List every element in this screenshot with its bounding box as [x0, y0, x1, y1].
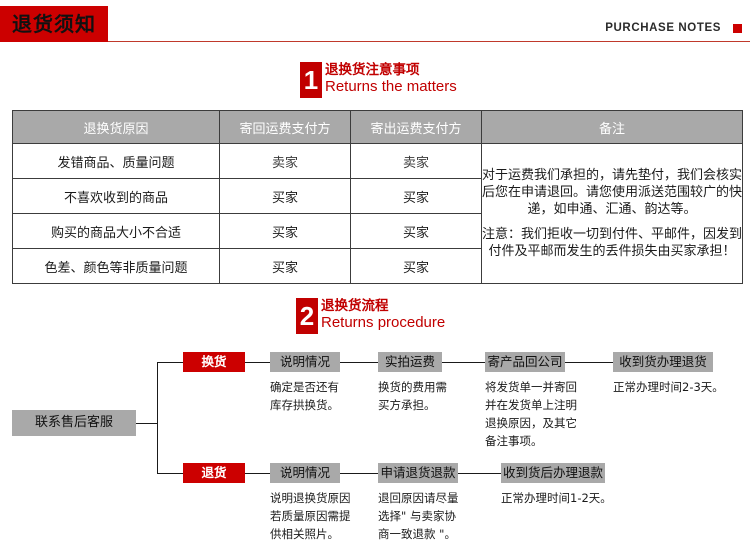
remark-paragraph-2: 注意：我们拒收一切到付件、平邮件，因发到付件及平邮而发生的丢件损失由买家承担！	[482, 226, 742, 260]
returns-policy-table: 退换货原因 寄回运费支付方 寄出运费支付方 备注 发错商品、质量问题 卖家 卖家…	[12, 110, 743, 284]
flow-step-exchange-4: 收到货办理退货	[613, 352, 713, 372]
flow-connector	[136, 423, 158, 424]
flow-step-return-1-desc: 说明退换货原因 若质量原因需提 供相关照片。	[270, 489, 380, 543]
flow-connector	[442, 362, 485, 363]
table-header-reason: 退换货原因	[13, 111, 220, 144]
flow-step-return-3-desc: 正常办理时间1-2天。	[501, 489, 641, 507]
flow-start-contact-service: 联系售后客服	[12, 410, 136, 436]
flow-step-exchange-1: 说明情况	[270, 352, 340, 372]
returns-flowchart: 联系售后客服 换货 说明情况 确定是否还有 库存拱换货。 实拍运费 换货的费用需…	[0, 340, 750, 551]
flow-step-return-1: 说明情况	[270, 463, 340, 483]
flow-connector	[340, 473, 378, 474]
page-title: 退货须知	[0, 6, 108, 42]
flow-connector	[565, 362, 613, 363]
red-square-icon	[733, 24, 742, 33]
cell-return-fee: 买家	[220, 214, 351, 249]
flow-branch-return: 退货	[183, 463, 245, 483]
cell-reason: 不喜欢收到的商品	[13, 179, 220, 214]
table-row: 发错商品、质量问题 卖家 卖家 对于运费我们承担的，请先垫付，我们会核实后您在申…	[13, 144, 743, 179]
flow-step-exchange-2-desc: 换货的费用需 买方承担。	[378, 378, 478, 414]
section-2-number: 2	[296, 298, 318, 334]
header-divider	[108, 41, 750, 42]
section-2-text: 退换货流程 Returns procedure	[321, 298, 445, 332]
cell-send-fee: 买家	[351, 249, 482, 284]
table-header-send-fee: 寄出运费支付方	[351, 111, 482, 144]
flow-step-return-2-desc: 退回原因请尽量 选择" 与卖家协 商一致退款 "。	[378, 489, 488, 543]
cell-reason: 购买的商品大小不合适	[13, 214, 220, 249]
header-banner: 退货须知	[0, 6, 108, 42]
flow-connector	[458, 473, 501, 474]
cell-send-fee: 卖家	[351, 144, 482, 179]
flow-connector	[157, 362, 183, 363]
cell-return-fee: 买家	[220, 179, 351, 214]
cell-send-fee: 买家	[351, 179, 482, 214]
table-header-return-fee: 寄回运费支付方	[220, 111, 351, 144]
table-header-row: 退换货原因 寄回运费支付方 寄出运费支付方 备注	[13, 111, 743, 144]
flow-step-exchange-3-desc: 将发货单一并寄回 并在发货单上注明 退换原因，及其它 备注事项。	[485, 378, 595, 450]
section-1-number: 1	[300, 62, 322, 98]
cell-return-fee: 卖家	[220, 144, 351, 179]
page-header: 退货须知 PURCHASE NOTES	[0, 0, 750, 48]
flow-connector	[245, 362, 270, 363]
cell-remark: 对于运费我们承担的，请先垫付，我们会核实后您在申请退回。请您使用派送范围较广的快…	[482, 144, 743, 284]
section-1-title: 1 退换货注意事项 Returns the matters	[300, 62, 457, 98]
header-right-group: PURCHASE NOTES	[605, 22, 742, 34]
cell-return-fee: 买家	[220, 249, 351, 284]
flow-spine	[157, 362, 158, 474]
flow-step-exchange-4-desc: 正常办理时间2-3天。	[613, 378, 743, 396]
flow-step-return-2: 申请退货退款	[378, 463, 458, 483]
section-1-title-cn: 退换货注意事项	[325, 62, 457, 78]
section-2-title-cn: 退换货流程	[321, 298, 445, 314]
flow-step-return-3: 收到货后办理退款	[501, 463, 605, 483]
flow-connector	[340, 362, 378, 363]
table-header-remark: 备注	[482, 111, 743, 144]
flow-connector	[245, 473, 270, 474]
flow-step-exchange-2: 实拍运费	[378, 352, 442, 372]
cell-send-fee: 买家	[351, 214, 482, 249]
remark-paragraph-1: 对于运费我们承担的，请先垫付，我们会核实后您在申请退回。请您使用派送范围较广的快…	[482, 167, 742, 218]
cell-reason: 发错商品、质量问题	[13, 144, 220, 179]
flow-connector	[157, 473, 183, 474]
section-2-title: 2 退换货流程 Returns procedure	[296, 298, 445, 334]
section-2-title-en: Returns procedure	[321, 314, 445, 332]
flow-branch-exchange: 换货	[183, 352, 245, 372]
header-subtitle: PURCHASE NOTES	[605, 22, 721, 34]
flow-step-exchange-3: 寄产品回公司	[485, 352, 565, 372]
section-1-title-en: Returns the matters	[325, 78, 457, 96]
section-1-text: 退换货注意事项 Returns the matters	[325, 62, 457, 96]
cell-reason: 色差、颜色等非质量问题	[13, 249, 220, 284]
flow-step-exchange-1-desc: 确定是否还有 库存拱换货。	[270, 378, 370, 414]
